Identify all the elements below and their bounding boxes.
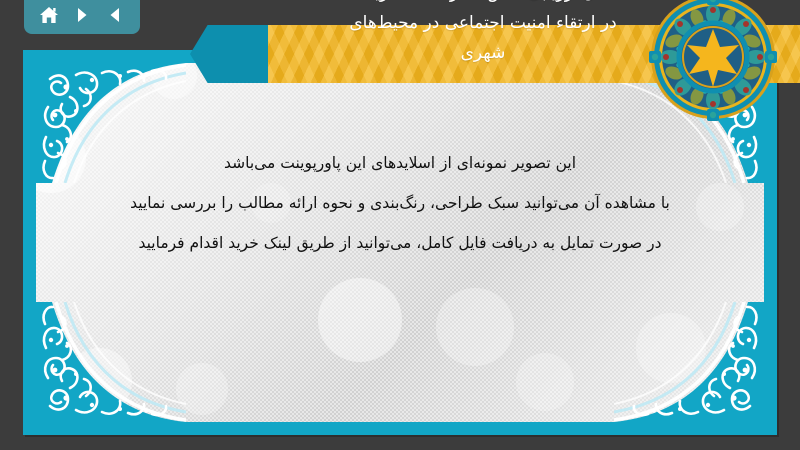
home-button[interactable] — [35, 2, 63, 28]
navigation-bar — [24, 0, 140, 34]
bokeh-circle — [636, 313, 706, 383]
bokeh-circle — [66, 348, 132, 414]
forward-arrow-icon — [72, 5, 92, 25]
home-icon — [38, 5, 60, 25]
body-line-2: با مشاهده آن می‌توانید سبک طراحی، رنگ‌بن… — [76, 183, 724, 223]
back-arrow-icon — [105, 5, 125, 25]
body-line-1: این تصویر نمونه‌ای از اسلایدهای این پاور… — [76, 143, 724, 183]
bokeh-circle — [436, 288, 514, 366]
persian-mandala-icon — [648, 0, 778, 122]
forward-button[interactable] — [68, 2, 96, 28]
bokeh-circle — [318, 278, 402, 362]
bokeh-circle — [516, 353, 574, 411]
slide-body-text: این تصویر نمونه‌ای از اسلایدهای این پاور… — [76, 143, 724, 263]
slide-viewer: این تصویر نمونه‌ای از اسلایدهای این پاور… — [0, 0, 800, 450]
body-line-3: در صورت تمایل به دریافت فایل کامل، می‌تو… — [76, 223, 724, 263]
back-button[interactable] — [101, 2, 129, 28]
bokeh-circle — [176, 363, 228, 415]
